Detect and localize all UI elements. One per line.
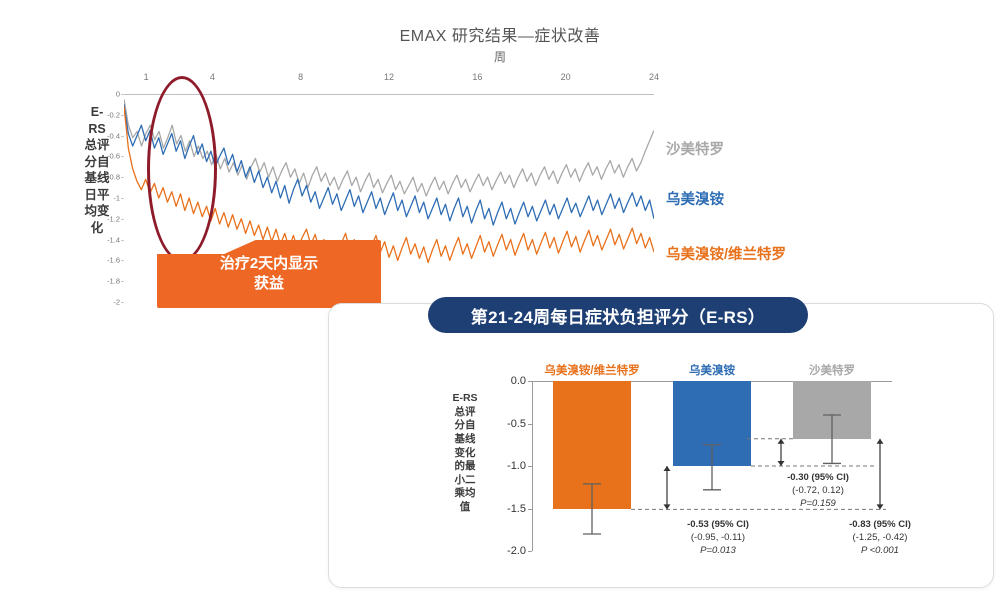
- y-label-char: 变化: [452, 447, 478, 461]
- y-tick-label: -0.8: [107, 173, 120, 182]
- y-tick-label: -2: [113, 298, 120, 307]
- p-value: P=0.159: [787, 498, 849, 511]
- bar-y-tick-mark: [528, 509, 532, 510]
- y-tick-label: -1: [113, 194, 120, 203]
- bar-y-axis-line: [532, 381, 533, 551]
- bar: [673, 381, 751, 466]
- x-tick-label: 16: [472, 72, 482, 82]
- x-tick-label: 8: [298, 72, 303, 82]
- y-label-char: E-RS: [452, 392, 478, 406]
- ci-estimate: -0.30 (95% CI): [787, 472, 849, 485]
- y-label-char: 基线: [452, 433, 478, 447]
- comparison-arrow: [664, 466, 671, 471]
- ci-range: (-1.25, -0.42): [849, 532, 911, 545]
- y-label-char: 值: [452, 501, 478, 515]
- y-tick-label: -1.4: [107, 235, 120, 244]
- bar-y-tick-label: -1.0: [507, 460, 526, 472]
- bar: [793, 381, 871, 439]
- bar-y-tick-label: -2.0: [507, 545, 526, 557]
- y-tick-label: -1.8: [107, 277, 120, 286]
- p-value: P <0.001: [849, 545, 911, 558]
- comparison-arrow: [877, 439, 884, 444]
- bar-category-label: 乌美溴铵/维兰特罗: [544, 362, 639, 378]
- comparison-statistics: -0.30 (95% CI)(-0.72, 0.12)P=0.159: [787, 472, 849, 510]
- y-tick-mark: [121, 302, 124, 303]
- comparison-arrow: [778, 439, 785, 444]
- comparison-arrow: [664, 504, 671, 509]
- bar-y-tick-label: -1.5: [507, 503, 526, 515]
- y-label-char: 总评: [452, 406, 478, 420]
- x-tick-label: 4: [210, 72, 215, 82]
- bar-y-tick-mark: [528, 551, 532, 552]
- bar-y-tick-mark: [528, 381, 532, 382]
- ci-range: (-0.72, 0.12): [787, 485, 849, 498]
- bar-y-tick-mark: [528, 466, 532, 467]
- bar-category-label: 沙美特罗: [809, 362, 855, 378]
- y-label-char: 的最: [452, 460, 478, 474]
- p-value: P=0.013: [687, 545, 749, 558]
- series-label-umec-vi: 乌美溴铵/维兰特罗: [666, 243, 786, 264]
- y-label-char: 日平: [84, 187, 110, 204]
- bar: [553, 381, 631, 509]
- y-label-char: 乘均: [452, 487, 478, 501]
- bar-y-tick-label: -0.5: [507, 418, 526, 430]
- y-tick-label: -0.6: [107, 152, 120, 161]
- y-tick-label: -1.2: [107, 214, 120, 223]
- series-label-salmeterol: 沙美特罗: [666, 138, 724, 159]
- page-title: EMAX 研究结果—症状改善: [0, 22, 1000, 46]
- slide-canvas: EMAX 研究结果—症状改善 周 E-RS 总评 分自 基线 日平 均变 化 1…: [0, 0, 1000, 604]
- comparison-statistics: -0.53 (95% CI)(-0.95, -0.11)P=0.013: [687, 519, 749, 557]
- week1-highlight-ellipse: [147, 76, 217, 262]
- comparison-arrow: [877, 504, 884, 509]
- ci-estimate: -0.53 (95% CI): [687, 519, 749, 532]
- comparison-arrow: [778, 461, 785, 466]
- bar-y-tick-mark: [528, 424, 532, 425]
- y-tick-label: -0.2: [107, 110, 120, 119]
- ci-estimate: -0.83 (95% CI): [849, 519, 911, 532]
- x-tick-label: 12: [384, 72, 394, 82]
- x-axis-title: 周: [0, 48, 1000, 65]
- y-tick-label: -1.6: [107, 256, 120, 265]
- x-tick-label: 20: [561, 72, 571, 82]
- comparison-statistics: -0.83 (95% CI)(-1.25, -0.42)P <0.001: [849, 519, 911, 557]
- series-label-umeclidinium: 乌美溴铵: [666, 188, 724, 209]
- inset-y-axis-label: E-RS 总评 分自 基线 变化 的最 小二 乘均 值: [452, 392, 478, 515]
- bar-category-label: 乌美溴铵: [689, 362, 735, 378]
- x-tick-label: 1: [144, 72, 149, 82]
- inset-title-banner: 第21-24周每日症状负担评分（E-RS）: [428, 297, 808, 333]
- ci-range: (-0.95, -0.11): [687, 532, 749, 545]
- callout-line-2: 获益: [220, 274, 318, 294]
- y-tick-label: 0: [116, 90, 120, 99]
- bar-y-tick-label: 0.0: [511, 375, 526, 387]
- y-label-char: 小二: [452, 474, 478, 488]
- callout-line-1: 治疗2天内显示: [220, 254, 318, 274]
- y-tick-label: -0.4: [107, 131, 120, 140]
- y-label-char: 分自: [452, 419, 478, 433]
- x-tick-label: 24: [649, 72, 659, 82]
